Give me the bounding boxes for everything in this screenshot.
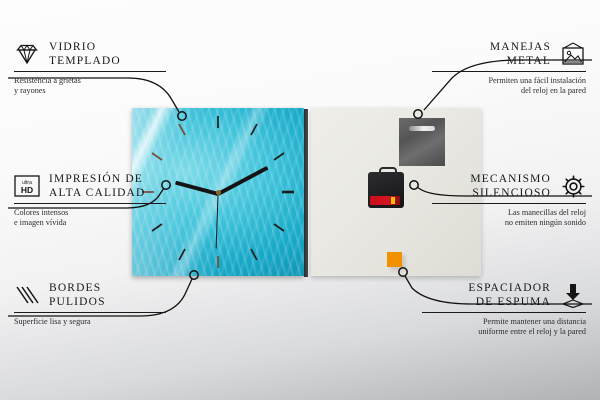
callout-manejas-metal: MANEJAS METAL Permiten una fácil instala… xyxy=(432,40,586,97)
callout-desc-line1: Las manecillas del reloj xyxy=(508,208,586,217)
callout-espaciador-espuma: ESPACIADOR DE ESPUMA Permite mantener un… xyxy=(422,281,586,338)
callout-title-line2: PULIDOS xyxy=(49,296,106,308)
callout-title-line2: METAL xyxy=(507,55,551,67)
callout-desc-line1: Colores intensos xyxy=(14,208,68,217)
callout-title-line1: IMPRESIÓN DE xyxy=(49,173,143,185)
callout-desc-line1: Resistencia a grietas xyxy=(14,76,81,85)
callout-divider xyxy=(14,71,166,72)
metal-hanger-plate xyxy=(399,118,445,166)
callout-desc-line2: uniforme entre el reloj y la pared xyxy=(478,327,586,336)
clock-movement-box xyxy=(368,172,404,208)
callout-vidrio-templado: VIDRIO TEMPLADO Resistencia a grietas y … xyxy=(14,40,166,97)
clock-side-edge xyxy=(304,109,308,277)
callout-title-line1: MANEJAS xyxy=(490,41,551,53)
callout-mecanismo-silencioso: MECANISMO SILENCIOSO xyxy=(432,172,586,229)
callout-title-line1: MECANISMO xyxy=(470,173,551,185)
callout-divider xyxy=(422,312,586,313)
callout-title-line1: ESPACIADOR xyxy=(468,282,551,294)
callout-divider xyxy=(432,71,586,72)
battery-label xyxy=(370,196,400,205)
callout-bordes-pulidos: BORDES PULIDOS Superficie lisa y segura xyxy=(14,281,166,327)
callout-title-line1: BORDES xyxy=(49,282,101,294)
callout-desc-line2: e imagen vívida xyxy=(14,218,66,227)
callout-title-line2: DE ESPUMA xyxy=(476,296,551,308)
callout-title-line2: ALTA CALIDAD xyxy=(49,187,145,199)
callout-divider xyxy=(14,203,166,204)
movement-hook xyxy=(379,167,397,176)
clock-center-cap xyxy=(216,190,221,195)
down-arrow-stack-icon xyxy=(560,282,586,308)
wall-frame-icon xyxy=(560,41,586,67)
svg-text:HD: HD xyxy=(21,185,33,195)
diamond-icon xyxy=(14,41,40,67)
callout-desc-line1: Superficie lisa y segura xyxy=(14,317,91,326)
callout-desc-line2: del reloj en la pared xyxy=(521,86,586,95)
diagonal-stripes-icon xyxy=(14,282,40,308)
hanger-slot xyxy=(409,126,435,131)
battery-terminal xyxy=(391,197,395,204)
gear-icon xyxy=(560,173,586,199)
callout-title-line2: TEMPLADO xyxy=(49,55,121,67)
infographic-canvas: VIDRIO TEMPLADO Resistencia a grietas y … xyxy=(0,0,600,400)
callout-desc-line1: Permite mantener una distancia xyxy=(483,317,586,326)
callout-desc-line2: y rayones xyxy=(14,86,46,95)
callout-desc-line1: Permiten una fácil instalación xyxy=(488,76,586,85)
callout-divider xyxy=(432,203,586,204)
callout-title-line1: VIDRIO xyxy=(49,41,96,53)
callout-divider xyxy=(14,312,166,313)
callout-desc-line2: no emiten ningún sonido xyxy=(505,218,586,227)
callout-impresion-alta-calidad: ultra HD IMPRESIÓN DE ALTA CALIDAD Color… xyxy=(14,172,166,229)
foam-spacer-pad xyxy=(387,252,402,267)
callout-title-line2: SILENCIOSO xyxy=(472,187,551,199)
ultra-hd-icon: ultra HD xyxy=(14,173,40,199)
